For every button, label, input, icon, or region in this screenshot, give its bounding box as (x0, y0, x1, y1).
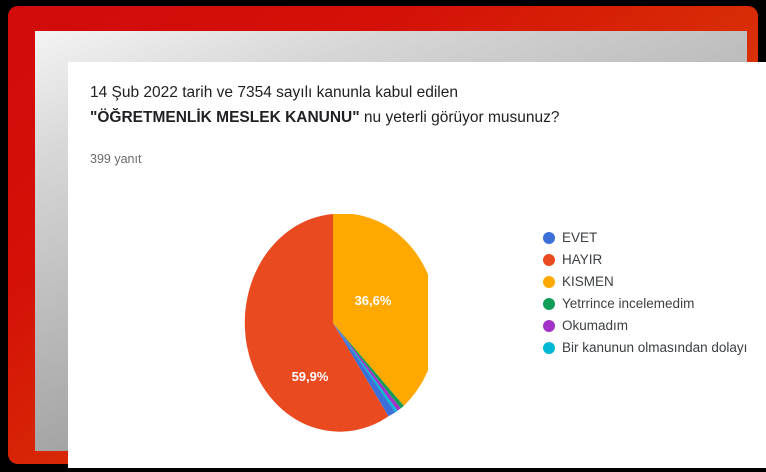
question-heading: 14 Şub 2022 tarih ve 7354 sayılı kanunla… (90, 82, 730, 130)
legend-color-dot-hayir (543, 254, 555, 266)
legend-item-kismen[interactable]: KISMEN (543, 271, 747, 293)
legend-label-bir-kanunun-olmasindan-dolayi: Bir kanunun olmasından dolayı (562, 337, 747, 359)
form-results-card: 14 Şub 2022 tarih ve 7354 sayılı kanunla… (68, 62, 766, 468)
legend-color-dot-okumadim (543, 320, 555, 332)
legend-color-dot-bir-kanunun-olmasindan-dolayi (543, 342, 555, 354)
legend-label-kismen: KISMEN (562, 271, 614, 293)
question-line-1: 14 Şub 2022 tarih ve 7354 sayılı kanunla… (90, 82, 730, 104)
pie-label-kismen: 36,6% (355, 293, 392, 308)
legend-label-okumadim: Okumadım (562, 315, 628, 337)
legend-item-okumadim[interactable]: Okumadım (543, 315, 747, 337)
decorative-inner-bevel: 14 Şub 2022 tarih ve 7354 sayılı kanunla… (35, 31, 747, 451)
question-line-2-rest: nu yeterli görüyor musunuz? (360, 109, 560, 126)
chart-legend: EVET HAYIR KISMEN Yetrrince incelem (543, 227, 747, 359)
legend-item-bir-kanunun-olmasindan-dolayi[interactable]: Bir kanunun olmasından dolayı (543, 337, 747, 359)
legend-color-dot-yeterince-incelemedim (543, 298, 555, 310)
pie-label-hayir: 59,9% (292, 369, 329, 384)
question-law-name: "ÖĞRETMENLİK MESLEK KANUNU" (90, 109, 360, 126)
legend-label-hayir: HAYIR (562, 249, 602, 271)
chart-area: 36,6% 59,9% EVET HAYIR (68, 192, 766, 468)
decorative-red-frame: 14 Şub 2022 tarih ve 7354 sayılı kanunla… (8, 6, 758, 464)
legend-item-evet[interactable]: EVET (543, 227, 747, 249)
question-line-2: "ÖĞRETMENLİK MESLEK KANUNU" nu yeterli g… (90, 106, 730, 130)
pie-chart-svg: 36,6% 59,9% (238, 214, 428, 432)
screenshot-root: 14 Şub 2022 tarih ve 7354 sayılı kanunla… (0, 0, 766, 472)
legend-label-evet: EVET (562, 227, 597, 249)
legend-item-hayir[interactable]: HAYIR (543, 249, 747, 271)
response-count: 399 yanıt (90, 152, 141, 166)
legend-color-dot-kismen (543, 276, 555, 288)
pie-chart: 36,6% 59,9% (238, 214, 428, 432)
legend-color-dot-evet (543, 232, 555, 244)
legend-label-yeterince-incelemedim: Yetrrince incelemedim (562, 293, 694, 315)
legend-item-yeterince-incelemedim[interactable]: Yetrrince incelemedim (543, 293, 747, 315)
